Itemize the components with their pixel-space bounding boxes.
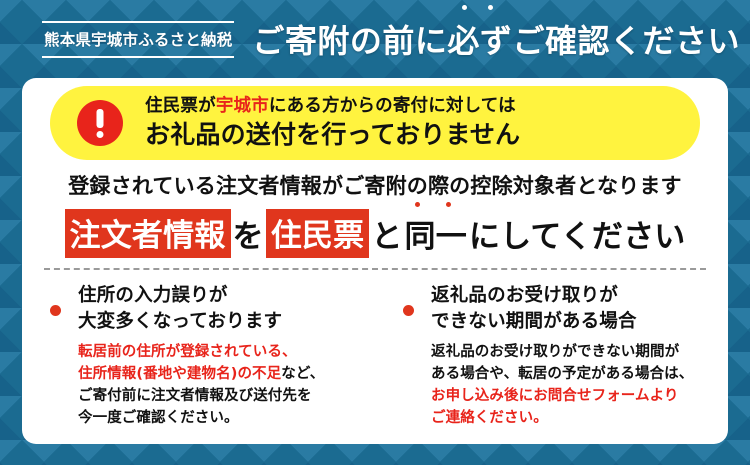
chip-orderer-info: 注文者情報	[65, 209, 231, 258]
tip-body-line: 今一度ご確認ください。	[78, 407, 363, 429]
tip-body-line: 返礼品のお受け取りができない期間が	[431, 341, 716, 363]
bullet-icon	[403, 305, 414, 316]
municipality-label: 熊本県宇城市ふるさと納税	[42, 21, 234, 58]
tip-heading: 住所の入力誤りが 大変多くなっております	[78, 283, 363, 336]
header-title-emphasis: 必ず	[447, 16, 512, 62]
header-title-pre: ご寄附の前に	[252, 22, 447, 60]
tip-heading-line1: 住所の入力誤りが	[78, 283, 363, 309]
alert-text: 住民票が宇城市にある方からの寄付に対しては お礼品の送付を行っておりません	[145, 96, 520, 150]
header-subtitle: 熊本県宇城市ふるさと納税	[42, 23, 234, 56]
alert-line-1: 住民票が宇城市にある方からの寄付に対しては	[145, 96, 520, 118]
tip-column-delivery: 返礼品のお受け取りが できない期間がある場合 返礼品のお受け取りができない期間が…	[375, 283, 728, 429]
banner-header: 熊本県宇城市ふるさと納税 ご寄附の前に必ずご確認ください	[0, 0, 750, 78]
alert-line-2: お礼品の送付を行っておりません	[145, 120, 520, 150]
notice-section: 登録されている注文者情報がご寄附の際の控除対象者となります 注文者情報を住民票と…	[22, 170, 728, 258]
notice-tail-emphasis: 同一	[405, 211, 467, 256]
alert-line1-pre: 住民票が	[145, 96, 216, 116]
tip-body-line: お申し込み後にお問合せフォームより	[431, 385, 716, 407]
notice-connector: を	[233, 211, 264, 256]
header-title: ご寄附の前に必ずご確認ください	[252, 16, 740, 62]
dashed-divider	[44, 268, 706, 270]
alert-banner: 住民票が宇城市にある方からの寄付に対しては お礼品の送付を行っておりません	[50, 86, 700, 160]
tip-body: 転居前の住所が登録されている、 住所情報(番地や建物名)の不足など、 ご寄付前に…	[78, 341, 363, 429]
tip-heading-line1: 返礼品のお受け取りが	[431, 283, 716, 309]
notice-line-1: 登録されている注文者情報がご寄附の際の控除対象者となります	[22, 170, 728, 200]
tip-heading: 返礼品のお受け取りが できない期間がある場合	[431, 283, 716, 336]
tip-heading-line2: 大変多くなっております	[78, 309, 363, 335]
notice-tail-post: にしてください	[469, 211, 686, 256]
chip-residence-card: 住民票	[266, 209, 370, 258]
tip-column-address: 住所の入力誤りが 大変多くなっております 転居前の住所が登録されている、 住所情…	[22, 283, 375, 429]
notice-line-2: 注文者情報を住民票と同一にしてください	[22, 209, 728, 258]
exclamation-icon	[77, 100, 123, 146]
header-title-post: ご確認ください	[512, 22, 740, 60]
tip-body-line: ある場合や、転居の予定がある場合は、	[431, 363, 716, 385]
tip-body-line: 住所情報(番地や建物名)の不足など、	[78, 363, 363, 385]
tip-body: 返礼品のお受け取りができない期間が ある場合や、転居の予定がある場合は、 お申し…	[431, 341, 716, 429]
exclamation-dot	[97, 131, 104, 138]
tip-body-red: 住所情報(番地や建物名)の不足	[78, 366, 281, 382]
bullet-icon	[50, 305, 61, 316]
alert-line1-post: にある方からの寄付に対しては	[269, 96, 516, 116]
tip-heading-line2: できない期間がある場合	[431, 309, 716, 335]
tip-body-line: ご寄付前に注文者情報及び送付先を	[78, 385, 363, 407]
notice-tail-pre: と	[371, 211, 402, 256]
alert-city-name: 宇城市	[216, 96, 269, 116]
tip-body-line: ご連絡ください。	[431, 407, 716, 429]
exclamation-bar	[97, 109, 104, 128]
tip-body-black: など、	[281, 366, 324, 382]
notice-card: 住民票が宇城市にある方からの寄付に対しては お礼品の送付を行っておりません 登録…	[22, 78, 728, 444]
tip-body-line: 転居前の住所が登録されている、	[78, 341, 363, 363]
tips-columns: 住所の入力誤りが 大変多くなっております 転居前の住所が登録されている、 住所情…	[22, 283, 728, 429]
header-rule-bottom	[42, 56, 234, 58]
